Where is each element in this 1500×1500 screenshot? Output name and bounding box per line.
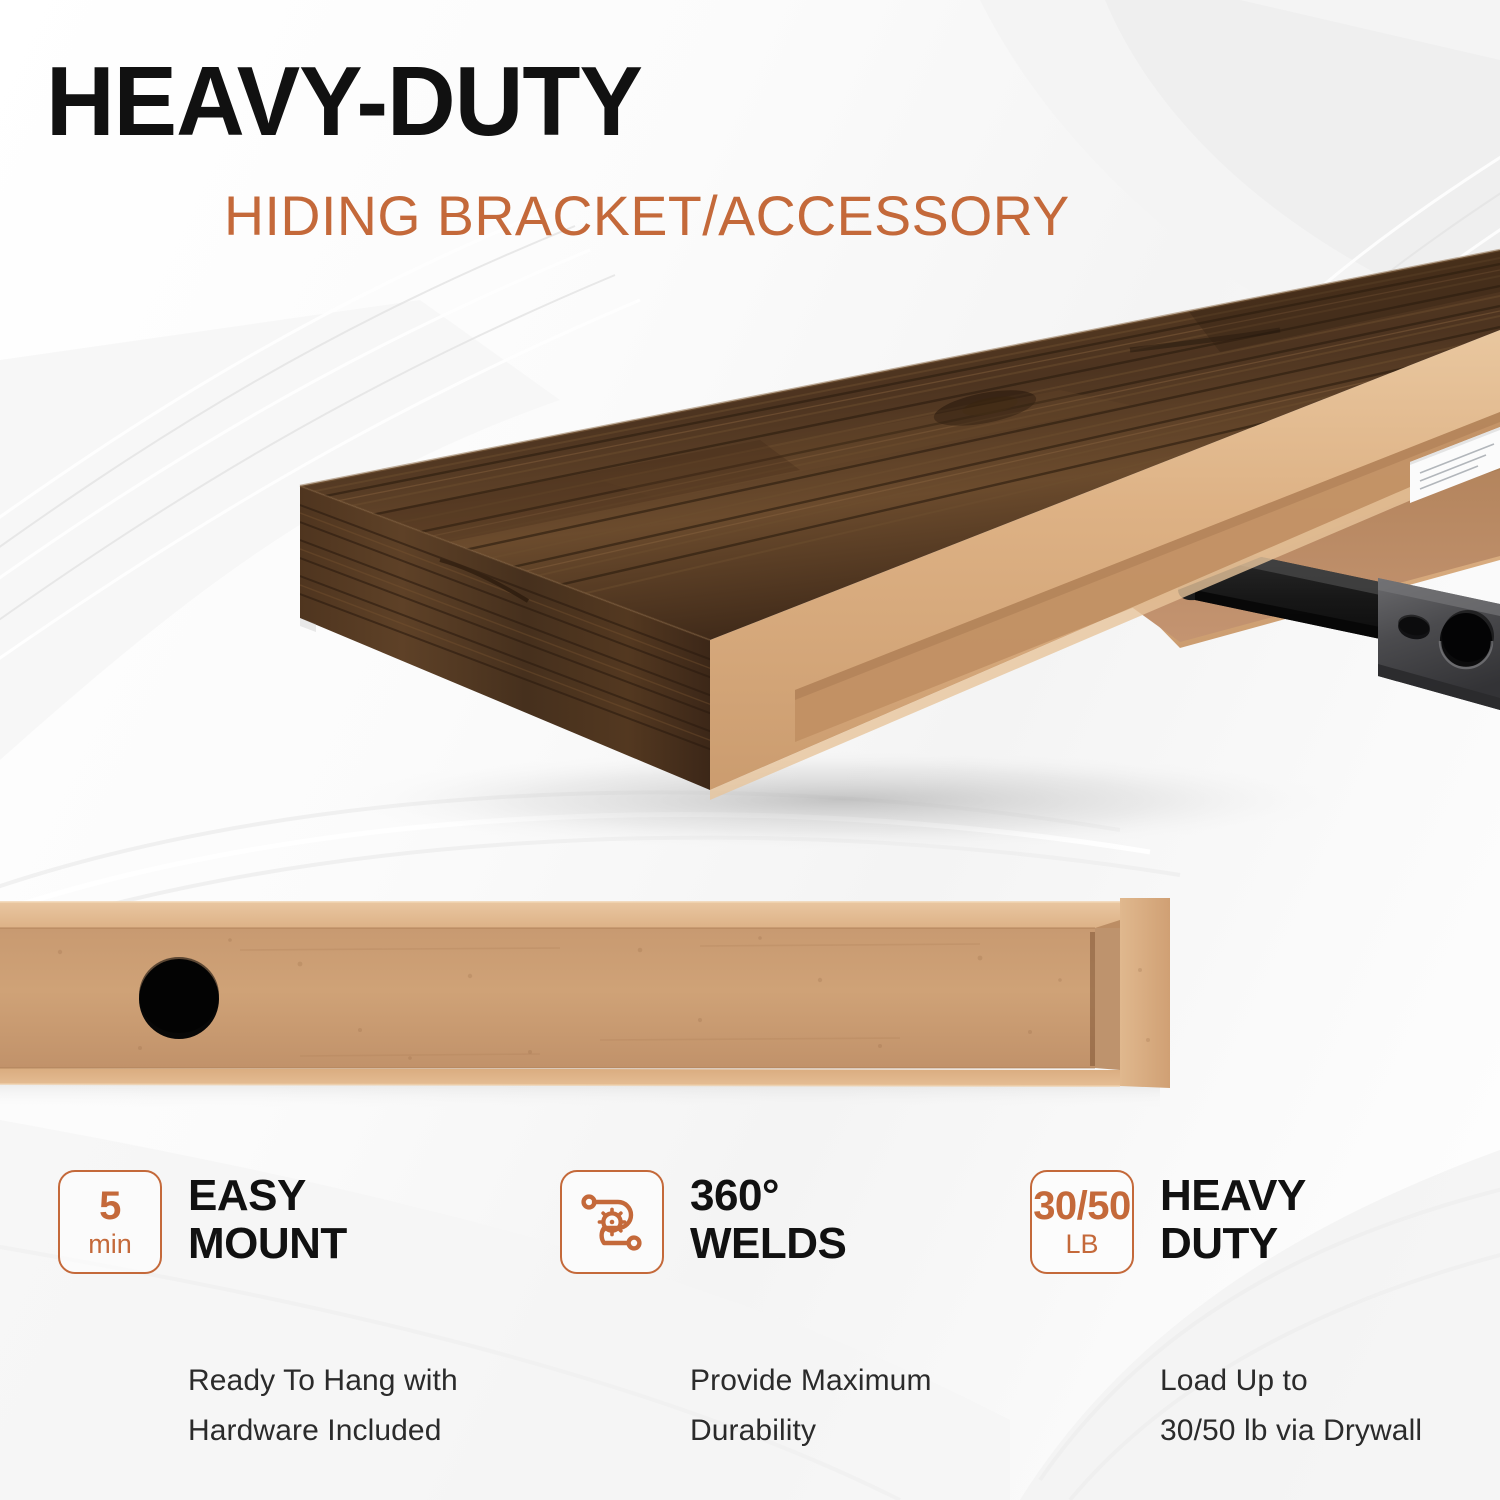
bracket-mounting-plate — [1378, 578, 1500, 710]
weld-path-gear-icon — [560, 1172, 664, 1272]
feature-title: 360°WELDS — [690, 1170, 846, 1267]
weight-badge-icon: 30/50 LB — [1030, 1170, 1134, 1274]
cut-end-face — [1120, 898, 1170, 1088]
feature-list: 5 min EASY MOUNT Ready To Hang with Hard… — [0, 1170, 1500, 1500]
feature-360-welds: 360°WELDS Provide Maximum Durability — [560, 1170, 1020, 1457]
badge-unit: min — [88, 1231, 132, 1258]
feature-header: 30/50 LB HEAVY DUTY — [1030, 1170, 1500, 1282]
feature-heavy-duty: 30/50 LB HEAVY DUTY Load Up to 30/50 lb … — [1030, 1170, 1500, 1457]
page-subtitle: HIDING BRACKET/ACCESSORY — [224, 188, 1070, 244]
cutaway-cross-section-image — [0, 880, 1500, 1140]
clock-badge-icon: 5 min — [58, 1170, 162, 1274]
badge-value: 5 — [99, 1186, 121, 1226]
feature-title: EASY MOUNT — [188, 1170, 347, 1267]
feature-description: Ready To Hang with Hardware Included — [188, 1356, 538, 1457]
weld-path-gear-badge — [560, 1170, 664, 1274]
feature-easy-mount: 5 min EASY MOUNT Ready To Hang with Hard… — [58, 1170, 538, 1457]
feature-description: Load Up to 30/50 lb via Drywall — [1160, 1356, 1500, 1457]
feature-header: 5 min EASY MOUNT — [58, 1170, 538, 1282]
badge-value: 30/50 — [1033, 1186, 1131, 1226]
feature-title-line2: WELDS — [690, 1219, 846, 1268]
feature-header: 360°WELDS — [560, 1170, 1020, 1282]
degree-symbol: ° — [762, 1171, 779, 1220]
feature-title: HEAVY DUTY — [1160, 1170, 1306, 1267]
feature-title-line1: 360 — [690, 1171, 762, 1220]
hero-shadow — [320, 748, 1360, 852]
badge-unit: LB — [1065, 1231, 1098, 1258]
feature-description: Provide Maximum Durability — [690, 1356, 1020, 1457]
page-title: HEAVY-DUTY — [46, 52, 642, 150]
